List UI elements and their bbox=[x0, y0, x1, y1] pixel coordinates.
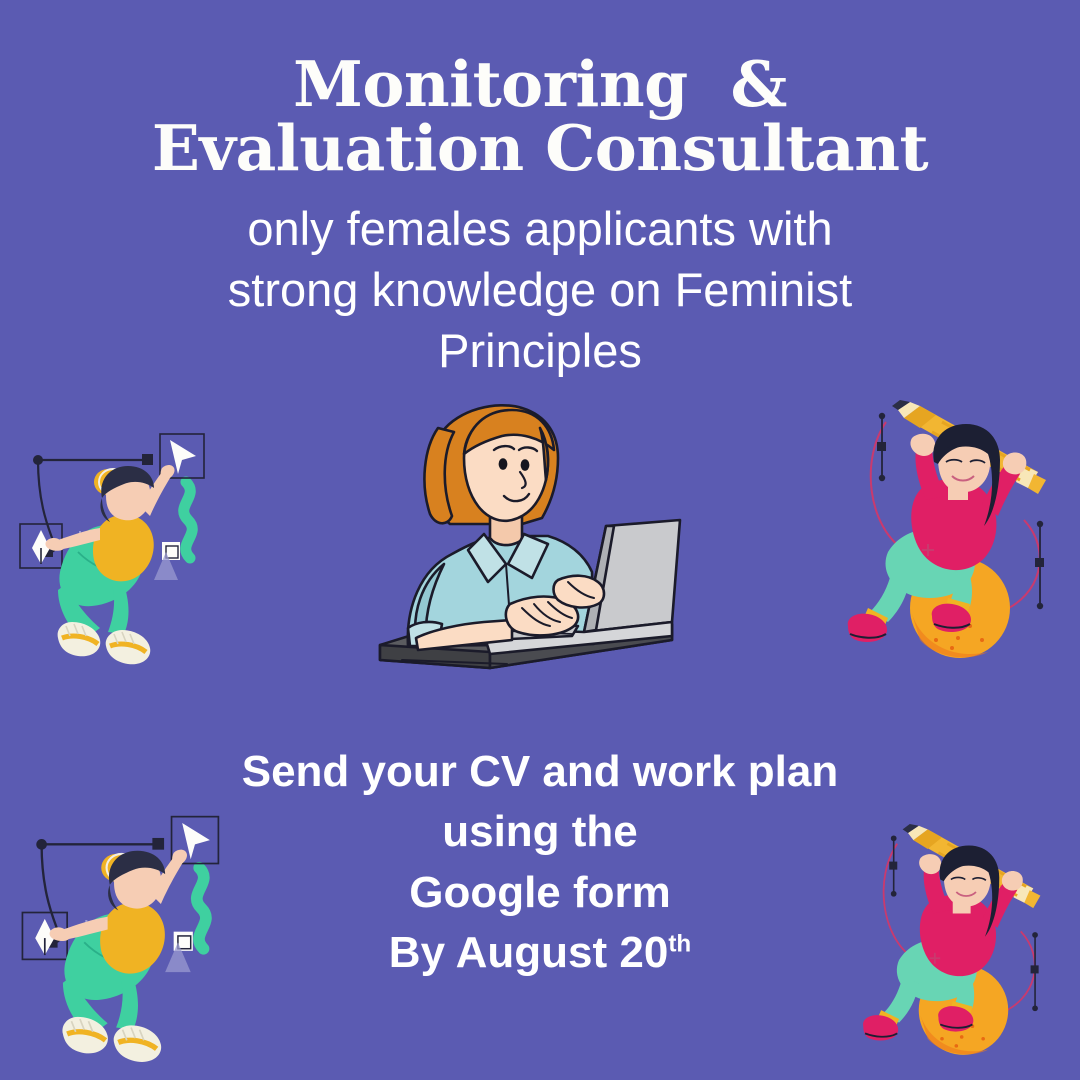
subtitle: only females applicants with strong know… bbox=[130, 198, 950, 381]
cta-line-2: using the bbox=[140, 802, 940, 862]
cta-line-4: By August 20th bbox=[140, 923, 940, 983]
subtitle-line-2: strong knowledge on Feminist bbox=[130, 259, 950, 320]
call-to-action: Send your CV and work plan using the Goo… bbox=[140, 742, 940, 983]
subtitle-line-3: Principles bbox=[130, 320, 950, 381]
cta-deadline-ordinal: th bbox=[668, 930, 691, 957]
floating-designer-illustration-top-left bbox=[14, 424, 228, 670]
title-line-2: Evaluation Consultant bbox=[152, 111, 928, 185]
floating-designer-illustration-bottom-left bbox=[14, 806, 246, 1068]
cta-line-3: Google form bbox=[140, 863, 940, 923]
woman-with-pencil-illustration-bottom-right bbox=[856, 824, 1062, 1062]
poster-canvas: Monitoring & Evaluation Consultant only … bbox=[0, 0, 1080, 1080]
cta-line-1: Send your CV and work plan bbox=[140, 742, 940, 802]
page-title: Monitoring & Evaluation Consultant bbox=[0, 52, 1080, 181]
title-line-1: Monitoring & bbox=[293, 47, 787, 121]
cta-deadline-date: By August 20 bbox=[389, 928, 669, 977]
woman-typing-on-laptop-illustration bbox=[372, 392, 702, 684]
subtitle-line-1: only females applicants with bbox=[130, 198, 950, 259]
woman-with-pencil-illustration-top-right bbox=[842, 400, 1068, 666]
